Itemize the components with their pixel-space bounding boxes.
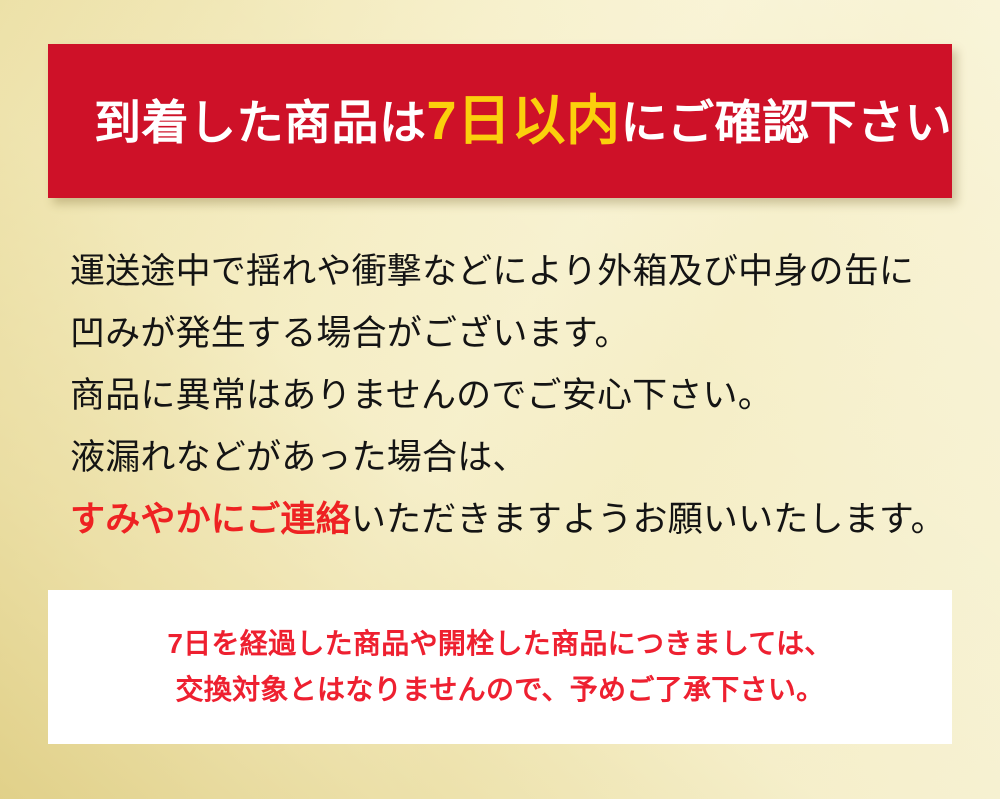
headline-highlight-text: 7日以内	[427, 91, 621, 151]
body-paragraph: 運送途中で揺れや衝撃などにより外箱及び中身の缶に 凹みが発生する場合がございます…	[70, 241, 950, 551]
notice-line-1: 7日を経過した商品や開栓した商品につきましては、	[167, 621, 832, 667]
body-line-4: 液漏れなどがあった場合は、	[70, 427, 950, 489]
body-line-3: 商品に異常はありませんのでご安心下さい。	[70, 365, 950, 427]
body-line-5-rest: いただきますようお願いいたします。	[351, 500, 946, 539]
body-line-5: すみやかにご連絡いただきますようお願いいたします。	[70, 489, 950, 551]
headline-trail-text: にご確認下さい	[621, 96, 953, 149]
content-layer: 到着した商品は7日以内にご確認下さい 運送途中で揺れや衝撃などにより外箱及び中身…	[0, 0, 1000, 799]
headline-banner: 到着した商品は7日以内にご確認下さい	[48, 44, 952, 198]
notice-line-2: 交換対象とはなりませんので、予めご了承下さい。	[176, 667, 825, 713]
body-line-2: 凹みが発生する場合がございます。	[70, 303, 950, 365]
headline-lead-text: 到着した商品は	[94, 96, 427, 149]
body-line-1: 運送途中で揺れや衝撃などにより外箱及び中身の缶に	[70, 241, 950, 303]
headline-text: 到着した商品は7日以内にご確認下さい	[94, 94, 952, 148]
body-warning-text: すみやかにご連絡	[70, 500, 351, 539]
notice-box: 7日を経過した商品や開栓した商品につきましては、 交換対象とはなりませんので、予…	[48, 590, 952, 744]
poster-root: 到着した商品は7日以内にご確認下さい 運送途中で揺れや衝撃などにより外箱及び中身…	[0, 0, 1000, 799]
